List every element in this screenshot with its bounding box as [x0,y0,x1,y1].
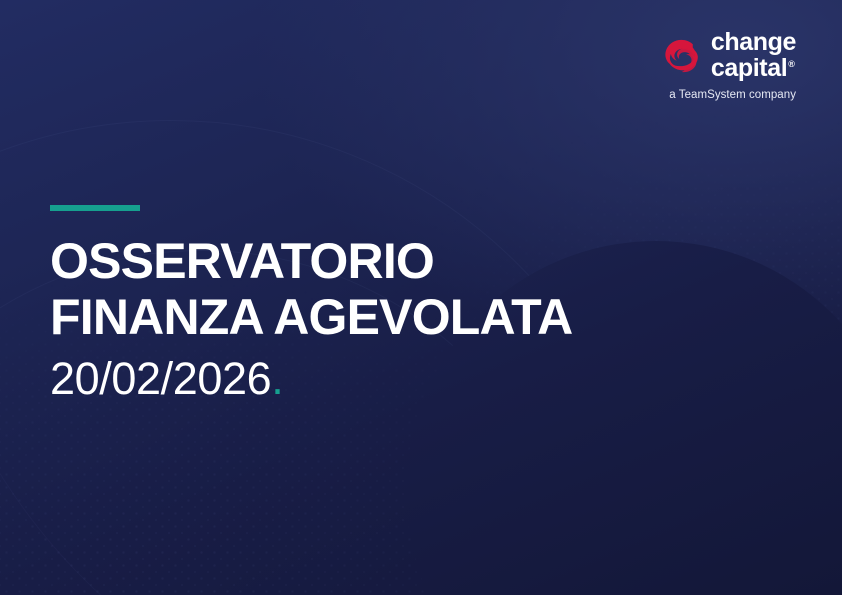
change-capital-swirl-icon [660,35,702,77]
logo-wordmark: change capital® [711,30,796,81]
brand-logo: change capital® a TeamSystem company [584,30,796,101]
logo-tagline: a TeamSystem company [584,89,796,101]
logo-word-capital-text: capital [711,54,787,82]
title-date: 20/02/2026. [50,354,770,404]
logo-word-change: change [711,30,796,55]
registered-trademark-symbol: ® [788,59,794,69]
title-date-text: 20/02/2026 [50,353,271,404]
page-title: OSSERVATORIO FINANZA AGEVOLATA [50,233,770,345]
title-date-period: . [271,353,283,404]
title-line-2: FINANZA AGEVOLATA [50,289,770,345]
title-line-1: OSSERVATORIO [50,233,770,289]
title-slide: change capital® a TeamSystem company OSS… [0,0,842,595]
logo-row: change capital® [584,30,796,81]
logo-word-capital: capital® [711,56,795,81]
title-block: OSSERVATORIO FINANZA AGEVOLATA 20/02/202… [50,205,770,404]
accent-rule [50,205,140,211]
